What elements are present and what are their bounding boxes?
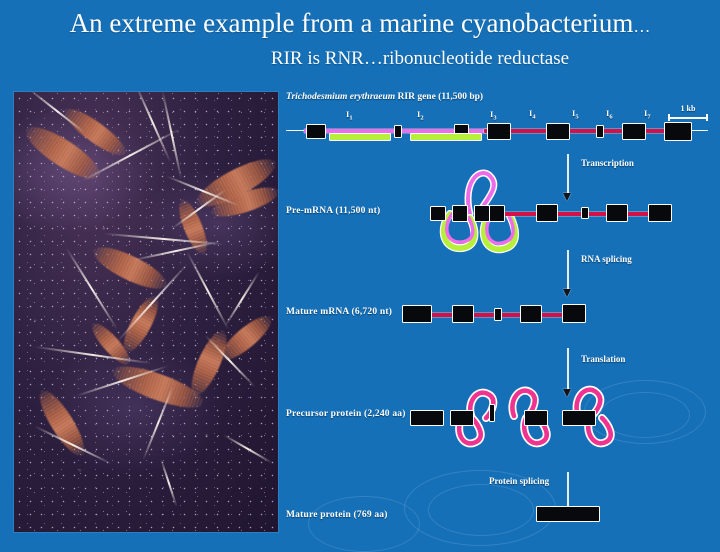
pre-mrna-exon-box <box>489 205 505 222</box>
pre-mrna-exon-box <box>536 204 558 222</box>
mature-mrna-exon-box <box>402 305 432 323</box>
mature-mrna-label: Mature mRNA (6,720 nt) <box>286 307 392 317</box>
gene-exon-box <box>622 123 646 140</box>
precursor-protein-extein-box <box>489 404 495 422</box>
gene-exon-track <box>484 129 684 133</box>
precursor-protein-extein-box <box>410 410 444 426</box>
intein-label-5: I5 <box>572 108 579 121</box>
precursor-protein-label: Precursor protein (2,240 aa) <box>286 409 406 419</box>
gene-title-species: Trichodesmium erythraeum <box>286 92 395 102</box>
intein-sub: 5 <box>575 114 578 121</box>
ripple-decoration <box>308 496 420 552</box>
mature-mrna-exon-box <box>562 304 586 323</box>
intein-label-6: I6 <box>606 108 613 121</box>
gene-exon-box <box>596 125 604 138</box>
mature-protein-label: Mature protein (769 aa) <box>286 510 388 520</box>
gene-intron-box <box>410 133 482 141</box>
translation-label: Translation <box>581 354 625 364</box>
gene-to-protein-diagram: Trichodesmium erythraeum RIR gene (11,50… <box>284 92 714 532</box>
rna-splicing-label: RNA splicing <box>581 254 632 264</box>
intein-label-3: I3 <box>490 109 497 122</box>
page-subtitle: RIR is RNR…ribonucleotide reductase <box>0 48 720 70</box>
scale-bar-label: 1 kb <box>668 104 708 113</box>
intein-sub: 6 <box>609 114 612 121</box>
precursor-protein-extein-box <box>524 410 548 426</box>
transcription-arrow <box>567 154 569 194</box>
gene-title-detail: RIR gene (11,500 bp) <box>395 92 483 102</box>
gene-flank-left <box>286 130 304 131</box>
pre-mrna-exon-box <box>474 205 490 222</box>
mature-mrna-exon-box <box>452 305 474 323</box>
precursor-protein-extein-box <box>562 410 596 426</box>
slide-canvas: An extreme example from a marine cyanoba… <box>0 0 720 540</box>
intein-sub: 3 <box>493 115 496 122</box>
title-ellipsis: … <box>633 17 650 36</box>
pre-mrna-exon-box <box>606 204 628 222</box>
gene-title: Trichodesmium erythraeum RIR gene (11,50… <box>286 92 483 102</box>
intein-label-1: I1 <box>346 109 353 122</box>
ripple-decoration <box>428 484 534 536</box>
page-title: An extreme example from a marine cyanoba… <box>0 8 720 42</box>
pre-mrna-exon-box <box>452 205 468 222</box>
pre-mrna-label: Pre-mRNA (11,500 nt) <box>286 206 380 216</box>
precursor-protein-extein-box <box>450 410 474 426</box>
intein-label-4: I4 <box>529 108 536 121</box>
rna-splicing-arrow <box>567 250 569 290</box>
mature-protein-box <box>536 506 600 522</box>
page-title-text: An extreme example from a marine cyanoba… <box>70 8 634 38</box>
gene-exon-box <box>664 122 692 141</box>
pre-mrna-exon-box <box>581 207 589 219</box>
mature-mrna-exon-box <box>520 305 542 323</box>
transcription-label: Transcription <box>581 158 634 168</box>
pre-mrna-exon-box <box>430 206 446 221</box>
intein-label-7: I7 <box>644 108 651 121</box>
intein-sub: 1 <box>349 115 352 122</box>
pre-mrna-exon-box <box>648 204 672 222</box>
intein-sub: 2 <box>420 115 423 122</box>
gene-exon-box <box>306 124 326 139</box>
mature-mrna-exon-box <box>494 308 502 321</box>
title-block: An extreme example from a marine cyanoba… <box>0 8 720 70</box>
intein-label-2: I2 <box>417 109 424 122</box>
protein-splicing-label: Protein splicing <box>489 476 549 486</box>
scale-bar-line <box>668 114 708 121</box>
gene-intron-box <box>329 133 391 141</box>
micrograph-image <box>14 92 278 532</box>
gene-exon-box <box>546 123 570 140</box>
gene-exon-box <box>487 123 511 140</box>
scale-bar: 1 kb <box>668 104 708 121</box>
intein-sub: 4 <box>532 114 535 121</box>
gene-exon-box <box>394 125 402 138</box>
intein-sub: 7 <box>647 114 650 121</box>
